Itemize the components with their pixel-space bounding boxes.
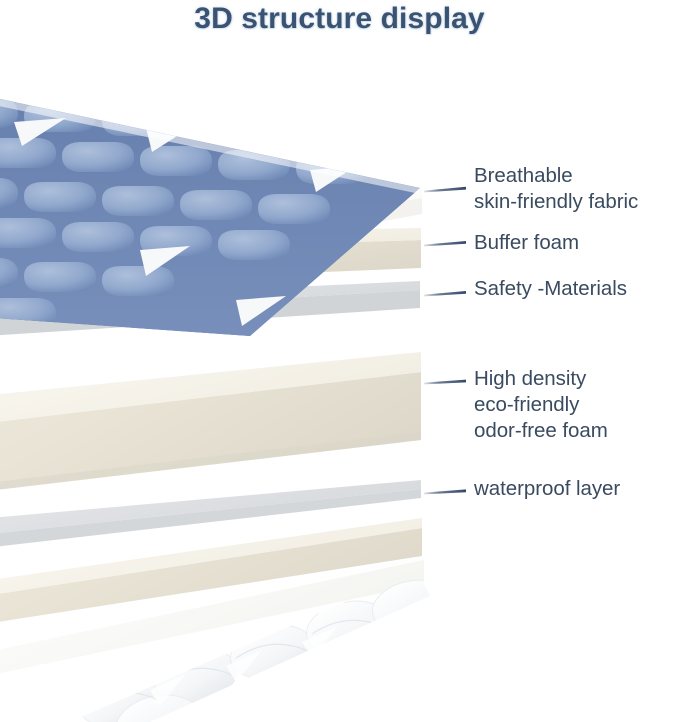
mattress-exploded-diagram [0,0,679,722]
label-high-density-foam: High density eco-friendly odor-free foam [474,366,608,444]
leader-line-breathable-fabric [424,187,466,193]
label-buffer-foam: Buffer foam [474,230,579,256]
leader-line-high-density-foam [424,380,466,385]
leader-line-safety-materials [424,291,466,296]
leader-line-waterproof-layer [424,489,466,494]
label-breathable-fabric: Breathable skin-friendly fabric [474,163,638,215]
page-title: 3D structure display [0,2,679,36]
leader-line-buffer-foam [424,241,466,246]
label-safety-materials: Safety -Materials [474,276,627,302]
label-waterproof-layer: waterproof layer [474,476,620,502]
infographic-canvas: 3D structure display [0,0,679,722]
leader-lines [424,187,466,495]
